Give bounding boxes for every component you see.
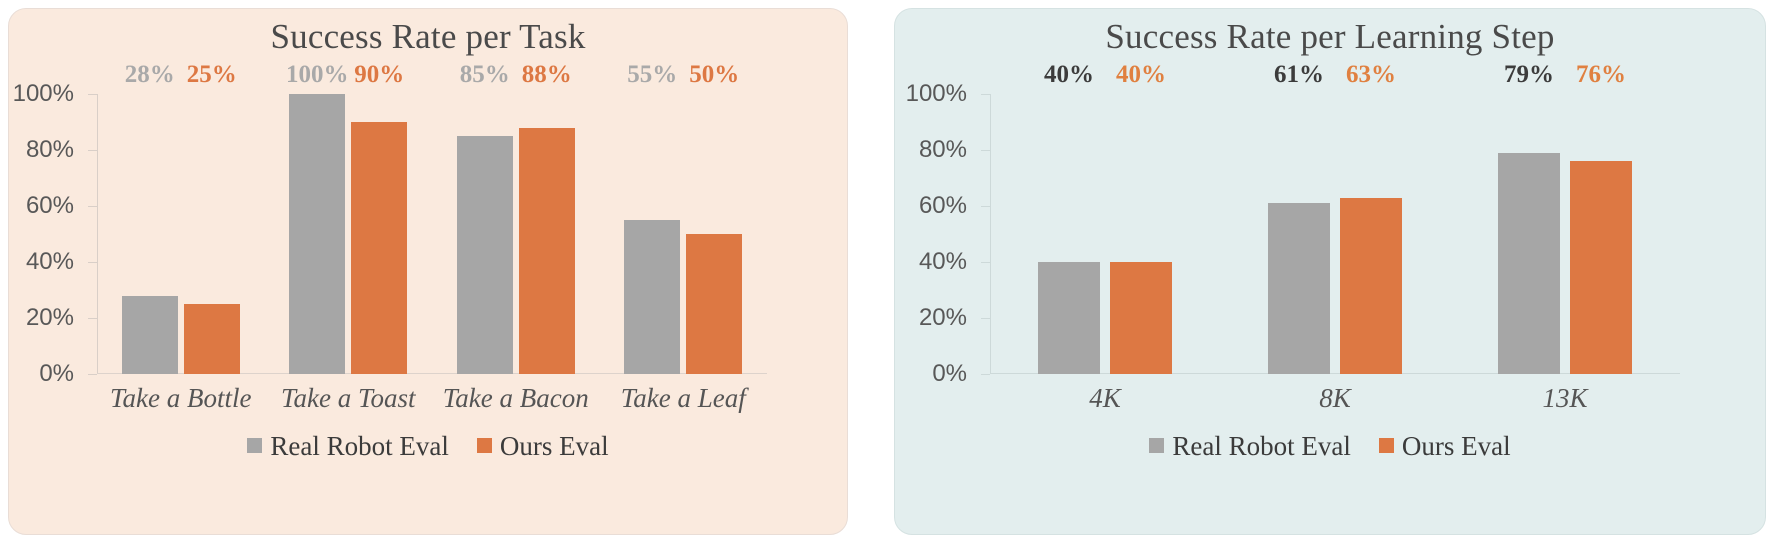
bar-groups-left: 28% 25% 100% 90% [97, 94, 767, 374]
bar-wrap: 63% [1340, 94, 1402, 374]
bar-ours-eval[interactable] [1340, 198, 1402, 374]
x-axis-label: 13K [1450, 383, 1680, 414]
bar-group: 79% 76% [1450, 94, 1680, 374]
legend-label: Real Robot Eval [270, 431, 448, 462]
x-axis-label: 8K [1220, 383, 1450, 414]
bar-group: 40% 40% [990, 94, 1220, 374]
bar-wrap: 88% [519, 94, 575, 374]
y-tick-80: 80% [981, 150, 990, 151]
bar-group: 61% 63% [1220, 94, 1450, 374]
legend-swatch-icon [477, 438, 492, 453]
bar-value-label: 88% [522, 61, 572, 89]
bar-ours-eval[interactable] [351, 122, 407, 374]
x-axis-label: Take a Leaf [600, 383, 768, 414]
x-axis-labels-right: 4K 8K 13K [990, 383, 1680, 414]
bar-wrap: 50% [686, 94, 742, 374]
bar-real-robot-eval[interactable] [122, 296, 178, 374]
y-tick-60: 60% [88, 206, 97, 207]
y-tick-0: 0% [88, 374, 97, 375]
legend-swatch-icon [1379, 438, 1394, 453]
bar-group: 28% 25% [97, 94, 265, 374]
bar-wrap: 85% [457, 94, 513, 374]
y-tick-label-80: 80% [26, 136, 74, 164]
y-tick-label-100: 100% [13, 80, 74, 108]
plot-area-left: 100% 80% 60% 40% 20% 0% 28% [97, 94, 767, 374]
bar-wrap: 76% [1570, 94, 1632, 374]
y-tick-20: 20% [981, 318, 990, 319]
bar-wrap: 100% [289, 94, 345, 374]
legend-label: Ours Eval [500, 431, 609, 462]
chart-title-left: Success Rate per Task [9, 17, 847, 57]
y-tick-60: 60% [981, 206, 990, 207]
bar-value-label: 40% [1044, 61, 1094, 89]
y-tick-label-40: 40% [26, 248, 74, 276]
bar-value-label: 100% [286, 61, 349, 89]
legend-label: Real Robot Eval [1172, 431, 1350, 462]
y-tick-label-0: 0% [932, 360, 967, 388]
legend-item-ours-eval[interactable]: Ours Eval [477, 431, 609, 462]
figure-container: Success Rate per Task 100% 80% 60% 40% 2… [0, 0, 1774, 550]
bar-real-robot-eval[interactable] [289, 94, 345, 374]
y-tick-100: 100% [981, 94, 990, 95]
y-tick-100: 100% [88, 94, 97, 95]
y-tick-label-60: 60% [919, 192, 967, 220]
bar-value-label: 61% [1274, 61, 1324, 89]
bar-real-robot-eval[interactable] [1268, 203, 1330, 374]
legend-item-real-robot-eval[interactable]: Real Robot Eval [247, 431, 448, 462]
bar-value-label: 63% [1346, 61, 1396, 89]
bar-real-robot-eval[interactable] [1038, 262, 1100, 374]
bar-value-label: 79% [1504, 61, 1554, 89]
bar-groups-right: 40% 40% 61% 63% [990, 94, 1680, 374]
bar-wrap: 25% [184, 94, 240, 374]
bar-value-label: 25% [187, 61, 237, 89]
legend-item-ours-eval[interactable]: Ours Eval [1379, 431, 1511, 462]
bar-value-label: 28% [125, 61, 175, 89]
x-axis-label: Take a Bacon [432, 383, 600, 414]
chart-title-right: Success Rate per Learning Step [895, 17, 1765, 57]
bar-wrap: 90% [351, 94, 407, 374]
bar-ours-eval[interactable] [1110, 262, 1172, 374]
y-tick-label-0: 0% [39, 360, 74, 388]
x-axis-labels-left: Take a Bottle Take a Toast Take a Bacon … [97, 383, 767, 414]
y-tick-80: 80% [88, 150, 97, 151]
y-tick-label-80: 80% [919, 136, 967, 164]
bar-group: 55% 50% [600, 94, 768, 374]
bar-wrap: 28% [122, 94, 178, 374]
legend-swatch-icon [1149, 438, 1164, 453]
bar-value-label: 76% [1576, 61, 1626, 89]
chart-panel-success-rate-per-learning-step: Success Rate per Learning Step 100% 80% … [894, 8, 1766, 535]
bar-value-label: 40% [1116, 61, 1166, 89]
y-tick-label-20: 20% [919, 304, 967, 332]
bar-ours-eval[interactable] [184, 304, 240, 374]
bar-value-label: 90% [354, 61, 404, 89]
x-axis-label: 4K [990, 383, 1220, 414]
y-tick-label-100: 100% [906, 80, 967, 108]
bar-real-robot-eval[interactable] [624, 220, 680, 374]
bar-wrap: 40% [1110, 94, 1172, 374]
bar-wrap: 40% [1038, 94, 1100, 374]
bar-real-robot-eval[interactable] [457, 136, 513, 374]
bar-wrap: 79% [1498, 94, 1560, 374]
legend-left: Real Robot Eval Ours Eval [9, 431, 847, 462]
y-tick-0: 0% [981, 374, 990, 375]
y-tick-40: 40% [88, 262, 97, 263]
legend-item-real-robot-eval[interactable]: Real Robot Eval [1149, 431, 1350, 462]
x-axis-label: Take a Toast [265, 383, 433, 414]
bar-ours-eval[interactable] [519, 128, 575, 374]
bar-value-label: 50% [689, 61, 739, 89]
bar-group: 85% 88% [432, 94, 600, 374]
chart-panel-success-rate-per-task: Success Rate per Task 100% 80% 60% 40% 2… [8, 8, 848, 535]
bar-value-label: 85% [460, 61, 510, 89]
plot-area-right: 100% 80% 60% 40% 20% 0% 40% [990, 94, 1680, 374]
legend-swatch-icon [247, 438, 262, 453]
y-tick-label-20: 20% [26, 304, 74, 332]
legend-right: Real Robot Eval Ours Eval [895, 431, 1765, 462]
y-tick-40: 40% [981, 262, 990, 263]
bar-value-label: 55% [627, 61, 677, 89]
bar-wrap: 61% [1268, 94, 1330, 374]
bar-ours-eval[interactable] [686, 234, 742, 374]
legend-label: Ours Eval [1402, 431, 1511, 462]
x-axis-label: Take a Bottle [97, 383, 265, 414]
y-tick-20: 20% [88, 318, 97, 319]
y-tick-label-60: 60% [26, 192, 74, 220]
y-tick-label-40: 40% [919, 248, 967, 276]
bar-ours-eval[interactable] [1570, 161, 1632, 374]
bar-group: 100% 90% [265, 94, 433, 374]
bar-wrap: 55% [624, 94, 680, 374]
bar-real-robot-eval[interactable] [1498, 153, 1560, 374]
